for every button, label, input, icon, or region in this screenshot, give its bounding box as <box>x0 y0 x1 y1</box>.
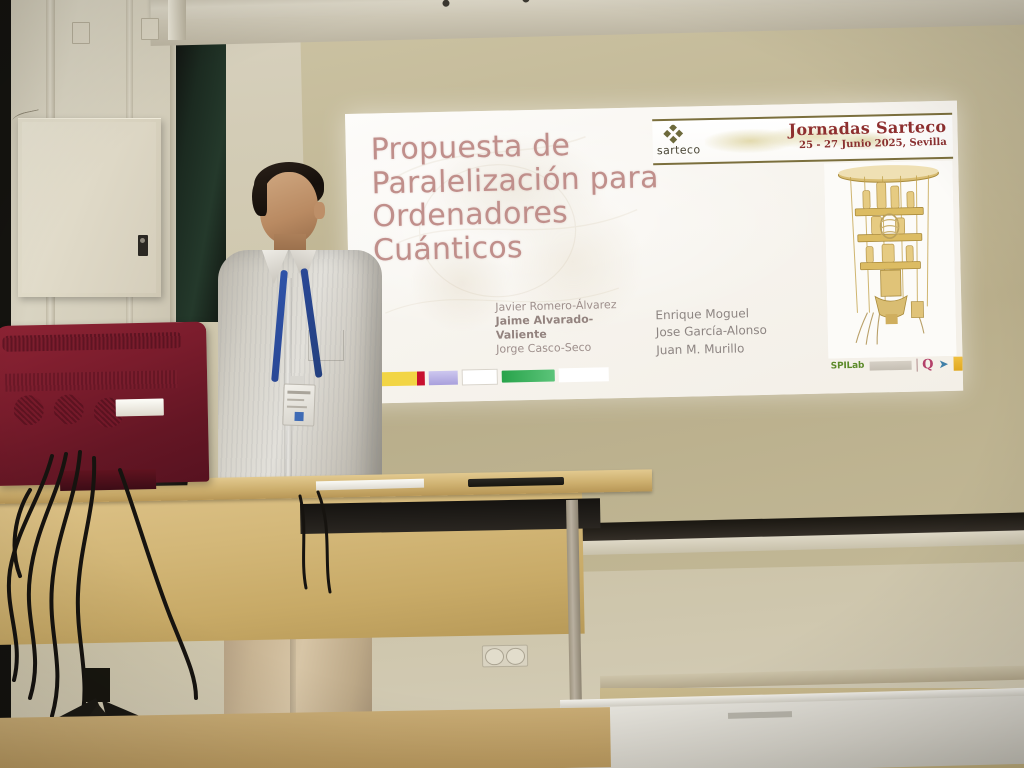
badge-text-line <box>287 406 307 409</box>
logo-divider <box>916 358 917 371</box>
monitor-vent-circle <box>13 395 44 426</box>
monitor-vent <box>2 332 182 352</box>
author-name: Jorge Casco-Seco <box>496 340 636 357</box>
rail-bolt-icon <box>442 0 449 7</box>
plan-recuperacion-logo-icon <box>502 369 556 382</box>
projected-slide: Propuesta de Paralelización para Ordenad… <box>345 101 963 404</box>
wall-socket[interactable] <box>72 22 90 44</box>
wall-socket[interactable] <box>141 18 159 40</box>
rail-bracket <box>168 0 186 40</box>
electrical-panel-box[interactable] <box>18 118 161 297</box>
quantum-computer-image <box>824 161 956 359</box>
blue-wave-logo-icon: ➤ <box>938 357 948 371</box>
badge-text-line <box>287 399 304 402</box>
floor-power-socket[interactable] <box>482 645 528 668</box>
foreground-desk-strip <box>0 707 611 768</box>
panel-lock-icon[interactable] <box>138 235 148 256</box>
badge-text-line <box>287 391 310 395</box>
ministerio-logo-icon <box>428 370 458 385</box>
monitor-vent-circle <box>53 394 84 425</box>
author-name-presenting: Jaime Alvarado-Valiente <box>495 312 636 343</box>
hair-side <box>252 180 267 216</box>
event-dates-location: 25 - 27 Junio 2025, Sevilla <box>799 137 947 151</box>
conference-badge <box>282 383 315 426</box>
author-name: Juan M. Murillo <box>656 338 836 359</box>
socket-outlet-icon <box>485 648 504 665</box>
socket-outlet-icon <box>506 647 525 664</box>
presentation-photo-scene: Propuesta de Paralelización para Ordenad… <box>0 0 1024 768</box>
quantum-computer-illustration <box>824 161 956 359</box>
university-wordmark-icon <box>869 360 911 370</box>
event-title: Jornadas Sarteco <box>788 117 946 139</box>
panel-door <box>22 122 156 293</box>
sarteco-logo-icon <box>660 125 686 146</box>
ear <box>314 202 325 219</box>
rail-bolt-icon <box>522 0 529 3</box>
badge-qr-icon <box>294 412 303 421</box>
fondos-europeos-logo-icon <box>559 367 609 382</box>
union-europea-logo-icon <box>462 368 498 385</box>
sarteco-wordmark: sarteco <box>657 143 701 157</box>
conference-header-banner: sarteco Jornadas Sarteco 25 - 27 Junio 2… <box>652 113 953 166</box>
quantum-logo-icon: Q <box>922 357 934 372</box>
authors-column-left: Javier Romero-Álvarez Jaime Alvarado-Val… <box>495 298 636 357</box>
slide-footer-institution-logos: SPILab Q ➤ <box>812 355 962 376</box>
monitor-sticker-label <box>116 398 164 416</box>
monitor-grille <box>5 370 177 392</box>
spilab-logo-label: SPILab <box>831 361 865 372</box>
yellow-bar-logo-icon <box>953 357 962 371</box>
authors-column-right: Enrique Moguel Jose García-Alonso Juan M… <box>655 303 836 359</box>
